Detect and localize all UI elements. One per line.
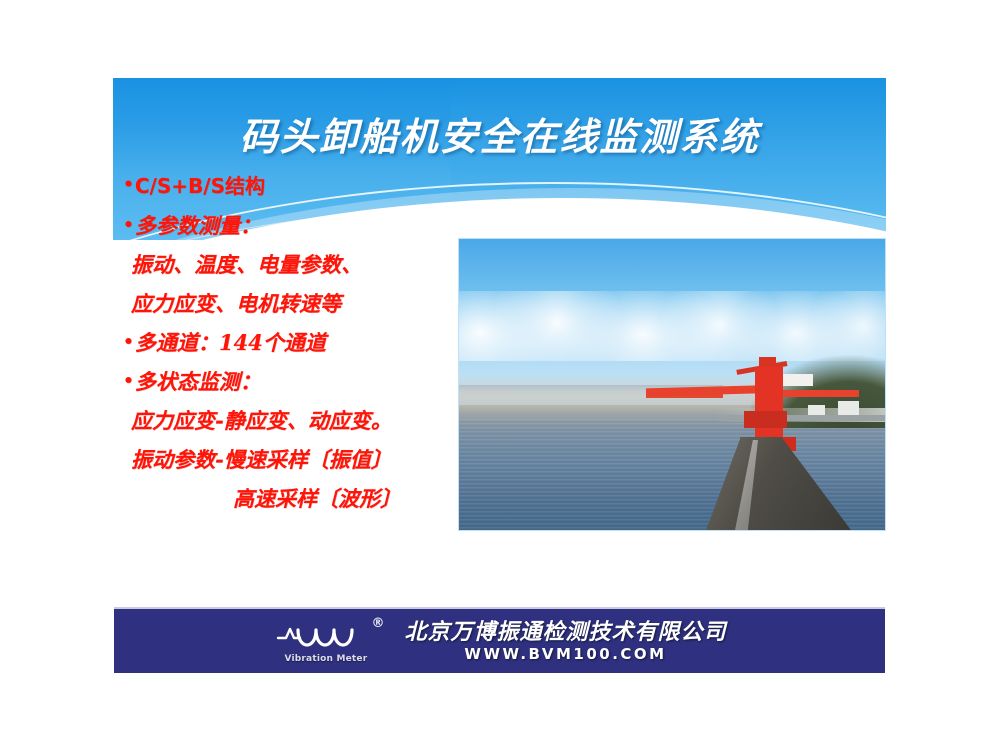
bullet-item-3: 振动、温度、电量参数、 <box>123 245 483 284</box>
photo-building-2 <box>808 405 825 415</box>
bullet-item-7: 应力应变-静应变、动应变。 <box>123 401 483 440</box>
bullet-text: 多状态监测： <box>135 369 261 394</box>
bullet-list: •C/S+B/S结构 •多参数测量： 振动、温度、电量参数、 应力应变、电机转速… <box>123 166 483 518</box>
presentation-slide: 码头卸船机安全在线监测系统 •C/S+B/S结构 •多参数测量： 振动、温度、电… <box>113 78 886 673</box>
bullet-text: 多通道：144个通道 <box>135 330 326 355</box>
bullet-item-1: •C/S+B/S结构 <box>123 166 483 206</box>
bullet-text: C/S+B/S结构 <box>135 174 265 198</box>
bullet-item-8: 振动参数-慢速采样〔振值〕 <box>123 440 483 479</box>
bullet-marker: • <box>123 371 135 391</box>
bullet-item-6: •多状态监测： <box>123 362 483 401</box>
photo-building-1 <box>838 401 859 416</box>
bullet-item-9: 高速采样〔波形〕 <box>123 479 483 518</box>
bullet-text: 振动、温度、电量参数、 <box>131 252 362 277</box>
ship-unloader-photo <box>458 238 886 531</box>
slide-title: 码头卸船机安全在线监测系统 <box>113 106 886 161</box>
company-website-url[interactable]: WWW.BVM100.COM <box>404 645 726 663</box>
bullet-marker: • <box>123 332 135 352</box>
registered-trademark-icon: ® <box>371 616 384 631</box>
footer-bar: ® Vibration Meter 北京万博振通检测技术有限公司 WWW.BVM… <box>114 607 885 673</box>
bullet-text: 应力应变-静应变、动应变。 <box>131 408 392 433</box>
bullet-item-4: 应力应变、电机转速等 <box>123 284 483 323</box>
bullet-item-2: •多参数测量： <box>123 206 483 245</box>
company-name-cn: 北京万博振通检测技术有限公司 <box>404 619 726 645</box>
bullet-marker: • <box>123 175 135 195</box>
logo-caption: Vibration Meter <box>284 654 367 664</box>
bullet-text: 应力应变、电机转速等 <box>131 291 341 316</box>
photo-crane-house <box>744 411 787 428</box>
bullet-text: 多参数测量： <box>135 213 261 238</box>
photo-crane-machinery-top <box>759 357 776 367</box>
bullet-marker: • <box>123 215 135 235</box>
photo-clouds <box>458 291 886 361</box>
bullet-item-5: •多通道：144个通道 <box>123 323 483 362</box>
bullet-text: 振动参数-慢速采样〔振值〕 <box>131 447 392 472</box>
footer-company-block: 北京万博振通检测技术有限公司 WWW.BVM100.COM <box>404 619 726 663</box>
company-logo: ® Vibration Meter <box>272 616 390 666</box>
bullet-text: 高速采样〔波形〕 <box>233 486 401 511</box>
